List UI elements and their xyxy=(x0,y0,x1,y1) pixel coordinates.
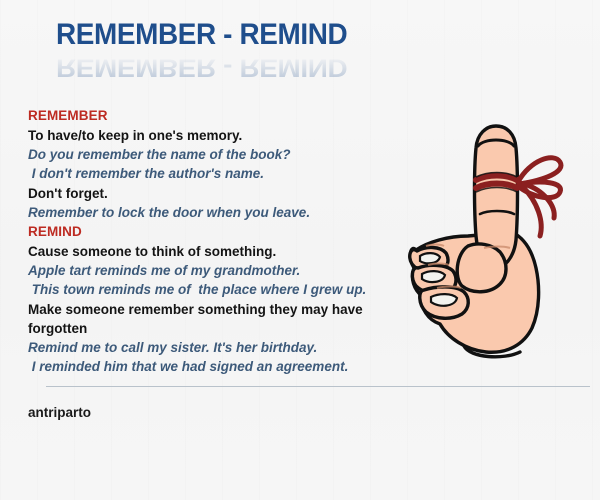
page-title: REMEMBER - REMIND xyxy=(56,18,447,52)
entry-example: Apple tart reminds me of my grandmother. xyxy=(28,261,418,280)
title-block: REMEMBER - REMIND REMEMBER - REMIND xyxy=(56,18,476,88)
page-title-reflection: REMEMBER - REMIND xyxy=(56,53,447,81)
entry-term: REMIND xyxy=(28,222,418,241)
horizontal-divider xyxy=(46,386,590,387)
page-root: REMEMBER - REMIND REMEMBER - REMIND REME… xyxy=(0,0,600,500)
entry-example: This town reminds me of the place where … xyxy=(28,280,418,299)
definitions-content: REMEMBER To have/to keep in one's memory… xyxy=(28,106,418,376)
entry-example: I reminded him that we had signed an agr… xyxy=(28,357,418,376)
entry-term: REMEMBER xyxy=(28,106,418,125)
entry-definition: Don't forget. xyxy=(28,184,418,203)
entry-remember: REMEMBER To have/to keep in one's memory… xyxy=(28,106,418,222)
entry-example: Remember to lock the door when you leave… xyxy=(28,203,418,222)
footer-label: antriparto xyxy=(28,405,91,420)
entry-example: Do you remember the name of the book? xyxy=(28,145,418,164)
entry-definition: Cause someone to think of something. xyxy=(28,242,418,261)
entry-example: I don't remember the author's name. xyxy=(28,164,418,183)
entry-definition: To have/to keep in one's memory. xyxy=(28,126,418,145)
entry-example: Remind me to call my sister. It's her bi… xyxy=(28,338,418,357)
entry-definition: Make someone remember something they may… xyxy=(28,300,418,338)
entry-remind: REMIND Cause someone to think of somethi… xyxy=(28,222,418,376)
hand-with-string-icon xyxy=(404,118,594,366)
